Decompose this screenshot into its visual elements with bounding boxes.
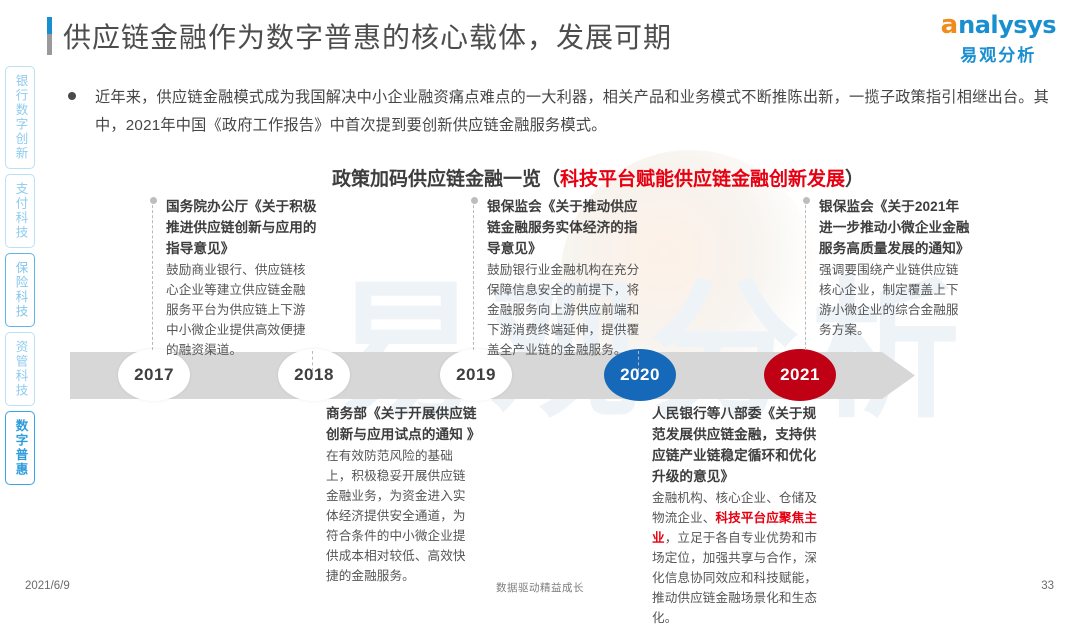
policy-card-desc-before: 强调要围绕产业链供应链核心企业，制定覆盖上下游小微企业的综合金融服务方案。 xyxy=(819,263,959,337)
policy-card-desc-after: ，立足于各自专业优势和市场定位，加强共享与合作，深化信息协同效应和科技赋能，推动… xyxy=(652,531,817,625)
section-heading-main: 政策加码供应链金融一览（ xyxy=(332,169,560,190)
policy-card-desc-before: 鼓励银行业金融机构在充分保障信息安全的前提下，将金融服务向上游供应前端和下游消费… xyxy=(487,263,639,357)
policy-card-desc: 强调要围绕产业链供应链核心企业，制定覆盖上下游小微企业的综合金融服务方案。 xyxy=(819,260,971,340)
sidebar-item-asset-management-tech[interactable]: 资管科技 xyxy=(5,332,35,406)
timeline-node-2021[interactable]: 2021 xyxy=(764,349,836,401)
card-connector-dot-icon xyxy=(803,197,810,204)
bullet-dot-icon xyxy=(68,92,76,100)
section-heading-highlight: 科技平台赋能供应链金融创新发展 xyxy=(560,169,845,190)
card-connector-line xyxy=(805,200,806,350)
card-connector-line xyxy=(473,200,474,350)
logo-word-text: nalysys xyxy=(958,13,1056,37)
policy-card-desc: 金融机构、核心企业、仓储及物流企业、科技平台应聚焦主业，立足于各自专业优势和市场… xyxy=(652,488,827,628)
sidebar-item-label: 资管科技 xyxy=(13,340,28,398)
card-connector-line xyxy=(152,200,153,350)
title-accent-bar xyxy=(47,17,52,55)
logo-wordmark: analysys xyxy=(941,12,1056,38)
timeline-node-label: 2021 xyxy=(780,365,820,385)
card-connector-line xyxy=(638,351,639,371)
brand-logo: analysys 易观分析 xyxy=(941,12,1056,66)
logo-chinese-text: 易观分析 xyxy=(941,41,1056,66)
section-heading: 政策加码供应链金融一览（科技平台赋能供应链金融创新发展） xyxy=(332,164,864,191)
sidebar-item-bank-digital-innovation[interactable]: 银行数字创新 xyxy=(5,66,35,169)
policy-card-desc: 在有效防范风险的基础上，积极稳妥开展供应链金融业务，为资金进入实体经济提供安全通… xyxy=(326,446,478,586)
card-connector-dot-icon xyxy=(150,197,157,204)
policy-card-desc-before: 鼓励商业银行、供应链核心企业等建立供应链金融服务平台为供应链上下游中小微企业提供… xyxy=(166,263,306,357)
sidebar-item-payment-tech[interactable]: 支付科技 xyxy=(5,174,35,248)
card-connector-dot-icon xyxy=(471,197,478,204)
sidebar-item-label: 银行数字创新 xyxy=(13,74,28,161)
card-connector-line xyxy=(312,351,313,371)
policy-card-title: 银保监会《关于2021年进一步推动小微企业金融服务高质量发展的通知》 xyxy=(819,196,971,259)
policy-card-desc: 鼓励商业银行、供应链核心企业等建立供应链金融服务平台为供应链上下游中小微企业提供… xyxy=(166,260,318,360)
policy-card-title: 人民银行等八部委《关于规范发展供应链金融，支持供应链产业链稳定循环和优化升级的意… xyxy=(652,403,827,487)
section-heading-tail: ） xyxy=(845,169,864,190)
timeline-node-label: 2019 xyxy=(456,365,496,385)
policy-card-title: 国务院办公厅《关于积极推进供应链创新与应用的指导意见》 xyxy=(166,196,318,259)
logo-a-glyph-icon: a xyxy=(941,12,959,38)
policy-card-desc: 鼓励银行业金融机构在充分保障信息安全的前提下，将金融服务向上游供应前端和下游消费… xyxy=(487,260,642,360)
sidebar-item-label: 保险科技 xyxy=(13,261,28,319)
policy-card-title: 商务部《关于开展供应链创新与应用试点的通知 》 xyxy=(326,403,478,445)
sidebar-item-insurance-tech[interactable]: 保险科技 xyxy=(5,253,35,327)
page-title-text: 供应链金融作为数字普惠的核心载体，发展可期 xyxy=(63,16,672,56)
intro-bullet-text: 近年来，供应链金融模式成为我国解决中小企业融资痛点难点的一大利器，相关产品和业务… xyxy=(95,84,1068,140)
timeline-node-label: 2018 xyxy=(294,365,334,385)
footer-tagline: 数据驱动精益成长 xyxy=(496,580,584,595)
timeline-node-label: 2020 xyxy=(620,365,660,385)
sidebar-item-digital-inclusive-finance[interactable]: 数字普惠 xyxy=(5,411,35,485)
intro-bullet: 近年来，供应链金融模式成为我国解决中小企业融资痛点难点的一大利器，相关产品和业务… xyxy=(68,84,1068,140)
timeline-node-label: 2017 xyxy=(134,365,174,385)
policy-card-title: 银保监会《关于推动供应链金融服务实体经济的指导意见》 xyxy=(487,196,642,259)
footer-date: 2021/6/9 xyxy=(25,580,70,592)
footer-page-number: 33 xyxy=(1041,580,1054,592)
sidebar-item-label: 支付科技 xyxy=(13,182,28,240)
sidebar-tabs: 银行数字创新 支付科技 保险科技 资管科技 数字普惠 xyxy=(5,66,35,490)
sidebar-item-label: 数字普惠 xyxy=(13,419,28,477)
policy-card-desc-before: 在有效防范风险的基础上，积极稳妥开展供应链金融业务，为资金进入实体经济提供安全通… xyxy=(326,449,466,583)
page-title: 供应链金融作为数字普惠的核心载体，发展可期 xyxy=(47,16,672,56)
footer: 2021/6/9 数据驱动精益成长 33 xyxy=(0,580,1080,598)
